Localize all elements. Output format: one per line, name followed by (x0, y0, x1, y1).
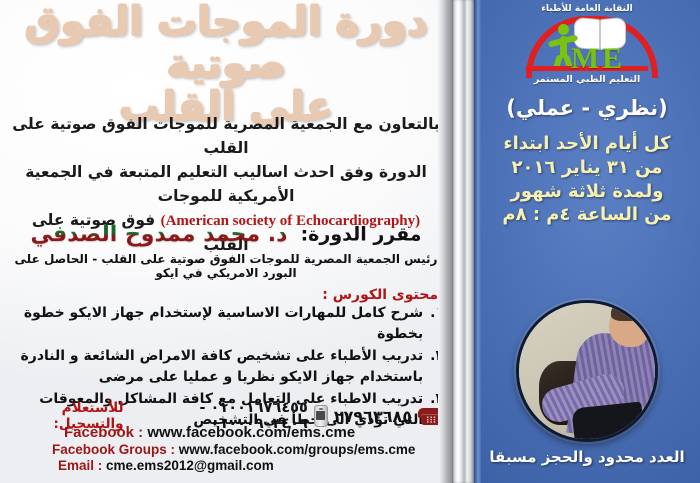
list-item-text: تدريب الأطباء على تشخيص كافة الامراض الش… (8, 346, 423, 388)
email-address[interactable]: cme.ems2012@gmail.com (106, 458, 274, 473)
intro-line-1: بالتعاون مع الجمعية المصرية للموجات الفو… (8, 112, 444, 160)
telephone-icon (418, 408, 444, 425)
schedule-line-1: كل أيام الأحد ابتداء (480, 132, 694, 156)
logo-bottom-arabic-text: التعليم الطبي المستمر (512, 74, 662, 85)
schedule-block: كل أيام الأحد ابتداء من ٣١ يناير ٢٠١٦ ول… (480, 132, 694, 227)
poster-root: دورة الموجات الفوق صوتية على القلب بالتع… (0, 0, 700, 483)
schedule-line-4: من الساعة ٤م : ٨م (480, 203, 694, 227)
instructor-photo (516, 300, 658, 442)
instructor-subtitle: رئيس الجمعية المصرية للموجات الفوق صوتية… (8, 252, 444, 280)
metallic-divider (452, 0, 474, 483)
limited-seats-note: العدد محدود والحجز مسبقا (474, 448, 700, 466)
email-label: Email : (58, 458, 102, 473)
facebook-label: Facebook : (64, 424, 143, 441)
title-line-1: دورة الموجات الفوق صوتية (0, 2, 452, 85)
logo-top-arabic-text: النقابة العامة للأطباء (512, 4, 662, 14)
schedule-line-2: من ٣١ يناير ٢٠١٦ (480, 156, 694, 180)
list-item: ١. شرح كامل للمهارات الاساسية لإستخدام ج… (8, 303, 444, 345)
email-line[interactable]: Email : cme.ems2012@gmail.com (40, 458, 444, 473)
schedule-line-3: ولمدة ثلاثة شهور (480, 180, 694, 204)
facebook-groups-line[interactable]: Facebook Groups : www.facebook.com/group… (40, 442, 444, 457)
cme-logo: النقابة العامة للأطباء ME التعليم الطبي … (512, 4, 662, 92)
sidebar-panel: النقابة العامة للأطباء ME التعليم الطبي … (474, 0, 700, 483)
facebook-groups-url[interactable]: www.facebook.com/groups/ems.cme (179, 442, 416, 457)
logo-letters: ME (512, 42, 662, 76)
intro-line-2: الدورة وفق احدث اساليب التعليم المتبعة ف… (8, 160, 444, 208)
facebook-groups-label: Facebook Groups : (52, 442, 175, 457)
course-mode: (نظري - عملي) (474, 96, 700, 120)
list-item-number: ٢. (430, 346, 444, 388)
instructor-label: مقرر الدورة: (301, 224, 422, 246)
web-contact-block: Facebook : www.facebook.com/ems.cme Face… (40, 424, 444, 473)
list-item-number: ١. (430, 303, 444, 345)
instructor-row: مقرر الدورة: د. محمد ممدوح الصدفي (8, 222, 444, 247)
facebook-url[interactable]: www.facebook.com/ems.cme (147, 424, 355, 441)
facebook-line[interactable]: Facebook : www.facebook.com/ems.cme (40, 424, 444, 441)
list-item: ٢. تدريب الأطباء على تشخيص كافة الامراض … (8, 346, 444, 388)
course-content-heading: محتوى الكورس : (322, 287, 438, 303)
list-item-text: شرح كامل للمهارات الاساسية لإستخدام جهاز… (8, 303, 423, 345)
instructor-name: د. محمد ممدوح الصدفي (30, 222, 287, 247)
poster-title: دورة الموجات الفوق صوتية على القلب (0, 2, 452, 129)
main-content-panel: دورة الموجات الفوق صوتية على القلب بالتع… (0, 0, 452, 483)
landline-number[interactable]: ٢٧٩٦٣٦٨٥ (334, 407, 412, 426)
